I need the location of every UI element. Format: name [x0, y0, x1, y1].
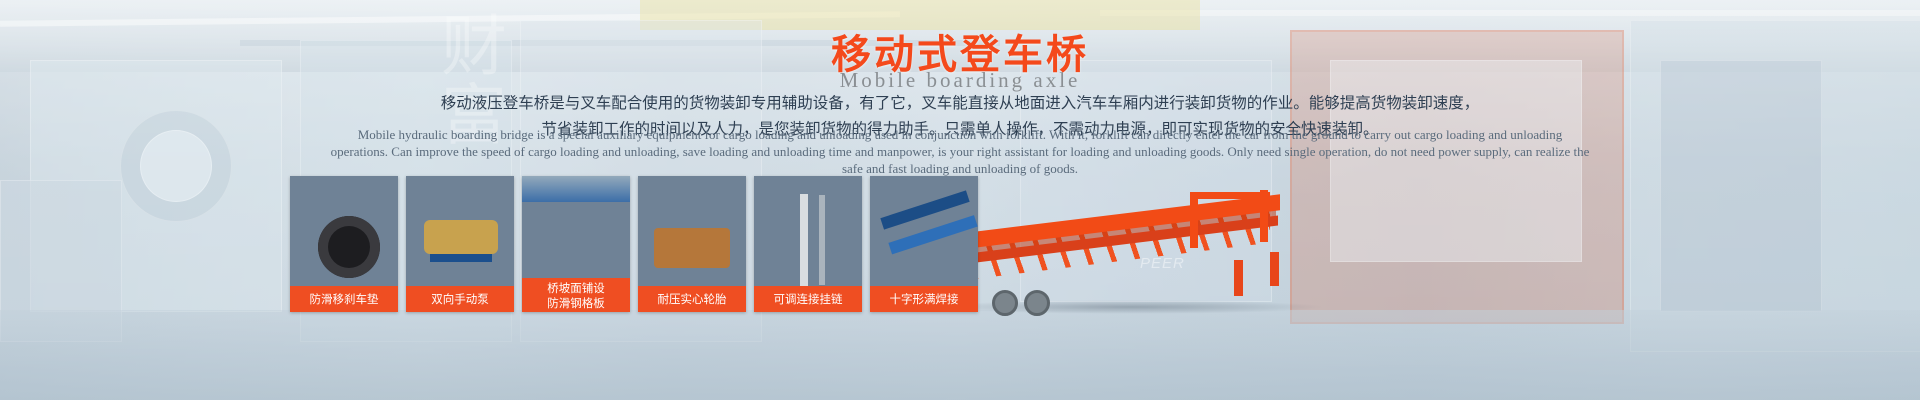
feature-caption: 桥坡面铺设 防滑钢格板	[522, 278, 630, 312]
feature-thumbnail-row: 防滑移刹车垫 双向手动泵 桥坡面铺设 防滑钢格板 耐压实心轮胎 可调连接挂链	[290, 176, 978, 312]
feature-caption: 十字形满焊接	[870, 286, 978, 312]
feature-caption: 防滑移刹车垫	[290, 286, 398, 312]
feature-image	[406, 176, 514, 286]
product-banner: 财富 PEER 移动式登车桥 Mobile boarding axle 移动液压…	[0, 0, 1920, 400]
feature-image	[522, 176, 630, 278]
description-english: Mobile hydraulic boarding bridge is a sp…	[330, 126, 1590, 177]
feature-caption-line-2: 防滑钢格板	[522, 296, 630, 311]
feature-card-anti-slip-steel-grating[interactable]: 桥坡面铺设 防滑钢格板	[522, 176, 630, 312]
feature-image	[290, 176, 398, 286]
feature-card-adjustable-chain[interactable]: 可调连接挂链	[754, 176, 862, 312]
feature-image	[638, 176, 746, 286]
banner-content: 移动式登车桥 Mobile boarding axle 移动液压登车桥是与叉车配…	[0, 0, 1920, 400]
feature-image	[870, 176, 978, 286]
feature-card-cross-full-welding[interactable]: 十字形满焊接	[870, 176, 978, 312]
feature-caption-line-1: 桥坡面铺设	[522, 281, 630, 296]
feature-caption: 双向手动泵	[406, 286, 514, 312]
description-chinese-line-1: 移动液压登车桥是与叉车配合使用的货物装卸专用辅助设备，有了它，叉车能直接从地面进…	[320, 90, 1600, 116]
feature-card-solid-tire[interactable]: 耐压实心轮胎	[638, 176, 746, 312]
feature-caption: 耐压实心轮胎	[638, 286, 746, 312]
feature-caption: 可调连接挂链	[754, 286, 862, 312]
feature-image	[754, 176, 862, 286]
feature-card-anti-slip-brake-pad[interactable]: 防滑移刹车垫	[290, 176, 398, 312]
feature-card-bidirectional-manual-pump[interactable]: 双向手动泵	[406, 176, 514, 312]
